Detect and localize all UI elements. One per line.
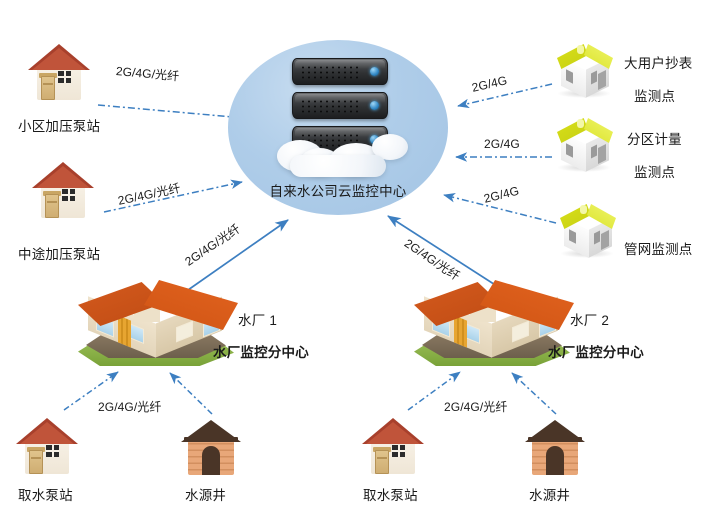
link-label-community-pump: 2G/4G/光纤 <box>115 62 180 84</box>
house-yellow-roof-icon <box>553 112 615 174</box>
topology-diagram: 自来水公司云监控中心 小区加压泵站 中途加压泵站 大用户抄表 监测点 <box>0 0 713 519</box>
link-label-midway-pump: 2G/4G/光纤 <box>116 179 182 209</box>
link-label-plant2-to-hub: 2G/4G/光纤 <box>401 234 463 284</box>
log-cabin-icon <box>180 418 242 476</box>
link-label-plant1-to-hub: 2G/4G/光纤 <box>181 220 243 270</box>
link-label-big-user-meter: 2G/4G <box>470 73 508 95</box>
node-label-source-well-1: 水源井 <box>185 484 226 504</box>
house-red-roof-icon <box>16 418 78 476</box>
house-yellow-roof-icon <box>553 38 615 100</box>
node-label-plant2-sub: 水厂监控分中心 <box>548 341 644 361</box>
link-label-pipe-network: 2G/4G <box>482 184 520 206</box>
house-red-roof-icon <box>362 418 424 476</box>
link-label-intake-pump2-to-plant2: 2G/4G/光纤 <box>444 398 507 415</box>
log-cabin-icon <box>524 418 586 476</box>
node-label-plant1-name: 水厂 1 <box>238 309 277 329</box>
link-source-well1-to-plant1 <box>170 373 212 414</box>
node-label-district-meter-line1: 分区计量 <box>627 128 682 148</box>
link-label-district-meter: 2G/4G <box>484 137 520 151</box>
house-red-roof-icon <box>32 162 94 220</box>
cloud-puff-icon <box>290 155 386 177</box>
link-label-intake-pump1-to-plant1: 2G/4G/光纤 <box>98 398 161 415</box>
cloud-monitoring-center-label: 自来水公司云监控中心 <box>228 180 448 200</box>
house-yellow-roof-icon <box>556 198 618 260</box>
node-label-midway-pump: 中途加压泵站 <box>18 243 100 263</box>
node-label-pipe-network: 管网监测点 <box>624 238 693 258</box>
node-label-big-user-meter-line1: 大用户抄表 <box>624 52 693 72</box>
link-community-pump-to-hub <box>98 105 244 118</box>
node-label-big-user-meter-line2: 监测点 <box>634 85 675 105</box>
house-red-roof-icon <box>28 44 90 102</box>
node-label-intake-pump-1: 取水泵站 <box>18 484 73 504</box>
node-label-community-pump: 小区加压泵站 <box>18 115 100 135</box>
node-label-plant2-name: 水厂 2 <box>570 309 609 329</box>
node-label-district-meter-line2: 监测点 <box>634 161 675 181</box>
link-source-well2-to-plant2 <box>512 373 556 414</box>
node-label-intake-pump-2: 取水泵站 <box>363 484 418 504</box>
node-label-source-well-2: 水源井 <box>529 484 570 504</box>
node-label-plant1-sub: 水厂监控分中心 <box>213 341 309 361</box>
